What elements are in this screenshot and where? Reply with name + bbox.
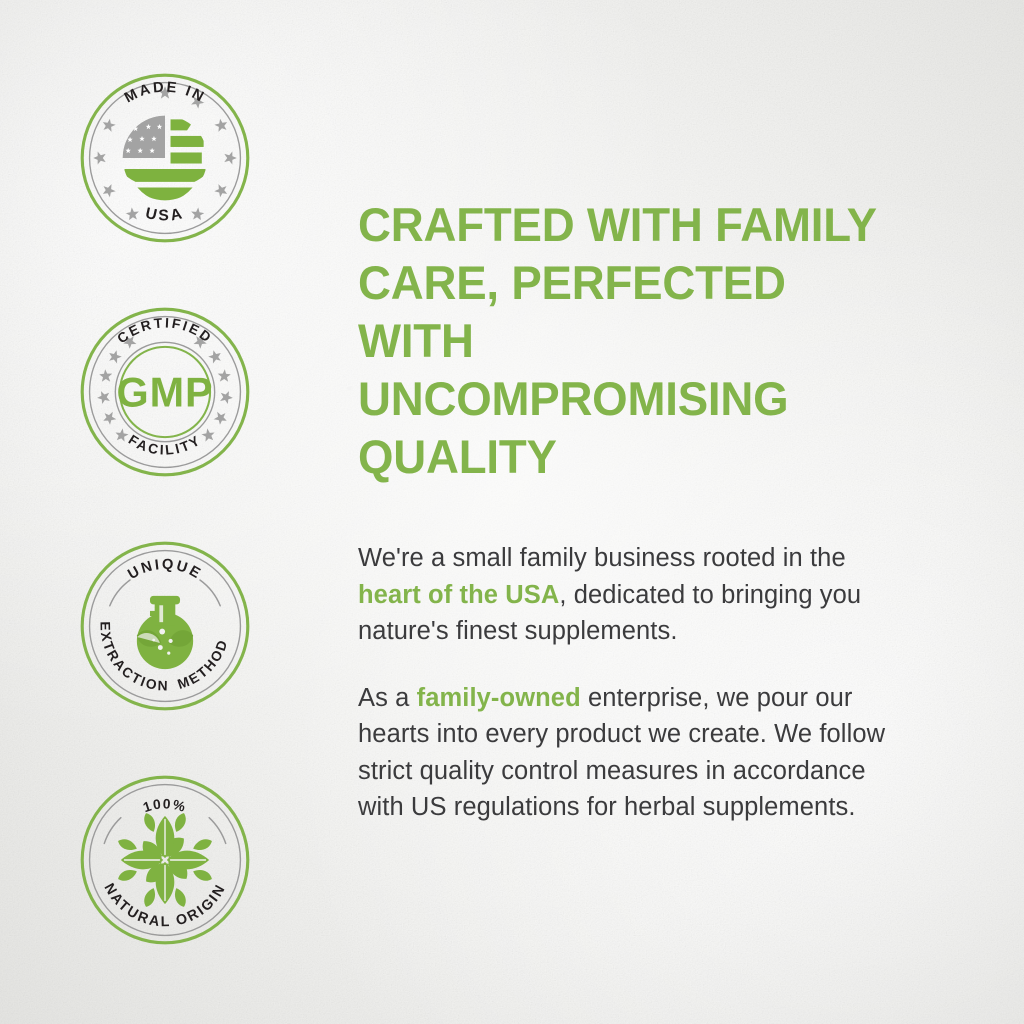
gmp-center-text: GMP [116,370,213,416]
badge-bottom-text: FACILITY [126,432,205,458]
paragraph-1: We're a small family business rooted in … [358,540,888,650]
badge-top-text: 100% [141,796,188,815]
badge-top-text: UNIQUE [125,557,204,583]
badge-bottom-text: USA [144,205,186,225]
made-in-usa-badge: MADE IN USA [73,66,257,250]
paragraph-2-segment-1: As a [358,684,417,712]
paragraph-1-segment-1: We're a small family business rooted in … [358,544,846,572]
paragraph-1-highlight: heart of the USA [358,581,559,609]
trust-badge-column: MADE IN USA [0,0,330,1024]
text-column: CRAFTED WITH FAMILY CARE, PERFECTED WITH… [330,0,1024,1024]
usa-flag-circle-icon [123,116,208,202]
content-layout: MADE IN USA [0,0,1024,1024]
flask-with-leaves-icon [137,596,193,669]
gmp-certified-facility-badge: GMP CERTIFIED FACILITY [73,300,257,484]
body-copy: We're a small family business rooted in … [358,540,888,826]
unique-extraction-method-badge: UNIQUE EXTRACTION METHOD [73,534,257,718]
natural-origin-badge: 100% NATURAL ORIGIN [73,768,257,952]
infographic-page: MADE IN USA [0,0,1024,1024]
badge-top-text: MADE IN [122,79,208,106]
page-headline: CRAFTED WITH FAMILY CARE, PERFECTED WITH… [358,196,897,486]
paragraph-2: As a family-owned enterprise, we pour ou… [358,680,888,826]
leaf-rosette-icon [116,811,213,908]
paragraph-2-highlight: family-owned [417,684,581,712]
